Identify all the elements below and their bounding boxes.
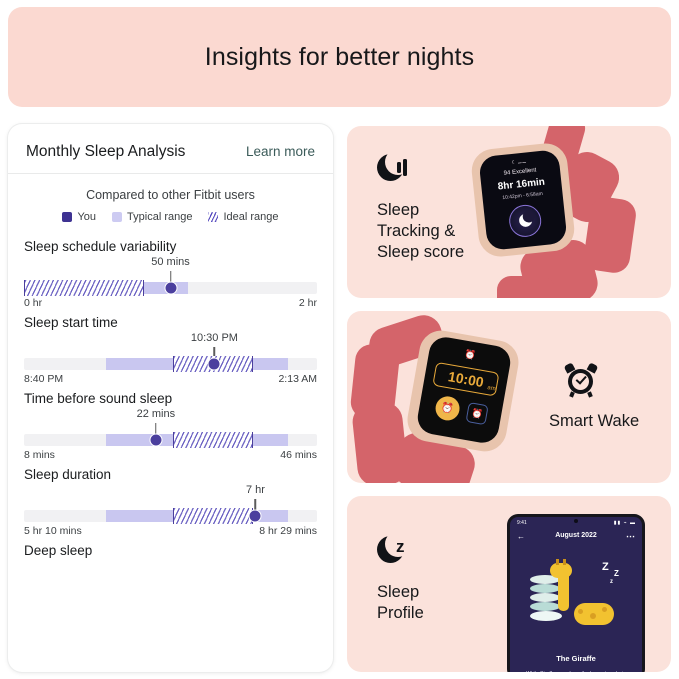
metric-track-bar [24, 510, 317, 522]
phone-nav-bar: ← August 2022 ⋯ [510, 532, 642, 544]
metric-track-bar [24, 282, 317, 294]
you-value-dot[interactable] [164, 282, 177, 295]
metric-axis: 0 hr2 hr [24, 297, 317, 309]
metric-row: Time before sound sleep22 mins8 mins46 m… [24, 391, 317, 454]
phone-screen: 9:41 ▮▮ ⌁ ▬ ← August 2022 ⋯ [510, 517, 642, 672]
giraffe-z-small: z [610, 579, 613, 585]
metric-value-label: 10:30 PM [191, 332, 238, 344]
metric-value-label: 50 mins [151, 256, 190, 268]
metric-track: 7 hr5 hr 10 mins8 hr 29 mins [24, 484, 317, 530]
legend-swatch-ideal-icon [208, 212, 218, 222]
metric-row: Deep sleep [24, 543, 317, 558]
you-value-dot[interactable] [249, 510, 262, 523]
feature-card-sleep-profile[interactable]: 9:41 ▮▮ ⌁ ▬ ← August 2022 ⋯ [347, 496, 671, 672]
axis-min-label: 8 mins [24, 449, 55, 461]
giraffe-z-medium: Z [614, 569, 619, 578]
feature-text-wake: Smart Wake [549, 363, 639, 432]
legend-item-you: You [62, 211, 96, 223]
metric-track: 22 mins8 mins46 mins [24, 408, 317, 454]
metric-track: 50 mins0 hr2 hr [24, 256, 317, 302]
metric-label: Sleep schedule variability [24, 239, 317, 254]
phone-overflow-icon[interactable]: ⋯ [626, 531, 635, 542]
giraffe-illustration: Z Z z [528, 559, 628, 633]
ideal-range-band [173, 508, 252, 524]
metric-track: 10:30 PM8:40 PM2:13 AM [24, 332, 317, 378]
metric-axis: 5 hr 10 mins8 hr 29 mins [24, 525, 317, 537]
legend-item-ideal: Ideal range [208, 211, 278, 223]
metric-row: Sleep schedule variability50 mins0 hr2 h… [24, 239, 317, 302]
metric-axis: 8 mins46 mins [24, 449, 317, 461]
you-value-dot[interactable] [149, 434, 162, 447]
header-banner: Insights for better nights [8, 7, 671, 107]
axis-max-label: 8 hr 29 mins [259, 525, 317, 537]
watch-alarm-secondary-button[interactable]: ⏰ [466, 402, 489, 425]
card-title: Monthly Sleep Analysis [26, 143, 185, 161]
you-value-dot[interactable] [208, 358, 221, 371]
metric-track-bar [24, 434, 317, 446]
moon-z-icon: z [377, 534, 411, 568]
phone-nav-title: August 2022 [555, 532, 597, 539]
watch-alarm-top-icon: ⏰ [464, 349, 477, 362]
legend-item-typical: Typical range [112, 211, 192, 223]
card-header: Monthly Sleep Analysis Learn more [8, 124, 333, 174]
comparison-subtitle: Compared to other Fitbit users [8, 174, 333, 202]
watch-face-moon-ring-icon [508, 203, 543, 238]
legend-label-ideal: Ideal range [223, 211, 278, 223]
phone-status-time: 9:41 [517, 520, 527, 526]
feature-label-wake: Smart Wake [549, 411, 639, 432]
phone-animal-title: The Giraffe [510, 654, 642, 663]
feature-card-smart-wake[interactable]: ⏰ 10:00 am ⏰ ⏰ Smart Wake [347, 311, 671, 483]
page-title: Insights for better nights [205, 43, 474, 72]
axis-min-label: 8:40 PM [24, 373, 63, 385]
giraffe-z-large: Z [602, 561, 609, 573]
metric-row: Sleep duration7 hr5 hr 10 mins8 hr 29 mi… [24, 467, 317, 530]
ideal-range-band [24, 280, 144, 296]
metric-label: Deep sleep [24, 543, 317, 558]
metric-value-label: 22 mins [137, 408, 176, 420]
legend-label-typical: Typical range [127, 211, 192, 223]
watch-alarm-set-button[interactable]: ⏰ [434, 395, 462, 423]
chart-legend: You Typical range Ideal range [8, 202, 333, 223]
metric-label: Sleep start time [24, 315, 317, 330]
watch-alarm-meridiem: am [487, 385, 496, 392]
moon-bars-icon [377, 152, 411, 186]
legend-label-you: You [77, 211, 96, 223]
feature-card-sleep-tracking[interactable]: ☾ ⚊⚊ 94 Excellent 8hr 16min 10:42pm - 6:… [347, 126, 671, 298]
ideal-range-band [173, 432, 252, 448]
page-root: Insights for better nights Monthly Sleep… [0, 0, 679, 679]
alarm-clock-icon [563, 363, 599, 397]
phone-back-icon[interactable]: ← [517, 532, 525, 541]
metric-row: Sleep start time10:30 PM8:40 PM2:13 AM [24, 315, 317, 378]
phone-status-icons: ▮▮ ⌁ ▬ [614, 520, 636, 526]
feature-text-tracking: Sleep Tracking & Sleep score [377, 152, 464, 263]
metric-value-stem [155, 423, 157, 434]
learn-more-link[interactable]: Learn more [246, 144, 315, 159]
metric-value-stem [170, 271, 172, 282]
legend-swatch-typical-icon [112, 212, 122, 222]
feature-text-profile: z Sleep Profile [377, 534, 424, 624]
feature-label-tracking: Sleep Tracking & Sleep score [377, 200, 464, 263]
axis-max-label: 2:13 AM [278, 373, 317, 385]
monthly-sleep-analysis-card: Monthly Sleep Analysis Learn more Compar… [8, 124, 333, 672]
phone-animal-description: While Giraffes may have the longest neck… [516, 671, 636, 673]
metric-label: Time before sound sleep [24, 391, 317, 406]
phone-camera-icon [574, 519, 578, 523]
metric-label: Sleep duration [24, 467, 317, 482]
legend-swatch-you-icon [62, 212, 72, 222]
metrics-list: Sleep schedule variability50 mins0 hr2 h… [8, 223, 333, 558]
axis-min-label: 5 hr 10 mins [24, 525, 82, 537]
axis-min-label: 0 hr [24, 297, 42, 309]
axis-max-label: 2 hr [299, 297, 317, 309]
metric-track-bar [24, 358, 317, 370]
metric-value-label: 7 hr [246, 484, 265, 496]
metric-value-stem [255, 499, 257, 510]
axis-max-label: 46 mins [280, 449, 317, 461]
feature-label-profile: Sleep Profile [377, 582, 424, 624]
metric-axis: 8:40 PM2:13 AM [24, 373, 317, 385]
